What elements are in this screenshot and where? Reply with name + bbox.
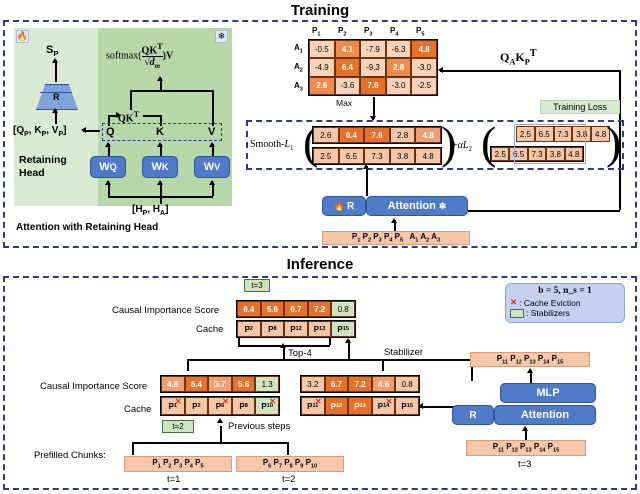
- tokens-to-attention-arrow: [391, 218, 397, 223]
- retaining-head-label: Retaining Head: [19, 154, 67, 180]
- legend-eviction-label: : Cache Eviction: [519, 298, 580, 308]
- cache-cell: P15: [331, 321, 355, 337]
- cache-cell: P12: [325, 397, 349, 415]
- v-label: V: [208, 126, 215, 138]
- snowflake-icon: ❄: [215, 30, 228, 43]
- attention-matrix-grid: -0.54.1-7.9-6.34.8-4.96.4-9.32.8-3.02.6-…: [308, 39, 438, 96]
- qakp-feedback-arrow: [438, 67, 443, 73]
- qkt-k-hline: [143, 115, 161, 117]
- matrix-cell: -9.3: [360, 58, 386, 76]
- smooth-l1-label: Smooth-L1: [250, 139, 294, 152]
- cache-cell: P11✕: [301, 397, 325, 415]
- mlp-to-output-arrow: [527, 368, 533, 373]
- h-input-label: [HP, HA]: [132, 204, 168, 217]
- cache-cell: P2: [237, 321, 261, 337]
- top4-bracket-left: [238, 338, 240, 345]
- sp-arrow-head: [52, 58, 58, 63]
- matrix-cell: 2.6: [313, 127, 339, 143]
- matrix-col-p5: P5: [416, 26, 424, 38]
- step3-score-row: 6.45.66.77.20.8: [236, 300, 356, 318]
- matrix-cell: -4.9: [309, 58, 335, 76]
- step3-right-score-row: 3.26.77.24.60.8: [300, 375, 420, 393]
- matrix-cell: 2.6: [309, 77, 335, 95]
- wv-to-v-arrow: [209, 142, 215, 147]
- score-cell: 5.6: [261, 301, 285, 317]
- softmax-formula: softmax( QKT √dm )V: [106, 42, 173, 70]
- decode-step-label: t=3: [518, 459, 531, 470]
- training-r-module[interactable]: 🔥 R: [322, 196, 366, 216]
- h-to-wq-arrow: [105, 180, 111, 185]
- h-stem-line: [160, 196, 162, 204]
- retaining-head-caption: Attention with Retaining Head: [16, 222, 158, 233]
- qkv-link-arrow: [81, 127, 86, 133]
- matrix-cell: 6.5: [339, 148, 365, 164]
- stabilizer-icon: [510, 309, 524, 318]
- inference-legend: b = 5, n_s = 1 ✕ : Cache Eviction : Stab…: [505, 283, 625, 323]
- chunk-1: P1 P2 P3 P4 P5: [124, 456, 232, 472]
- matrix-row: -4.96.4-9.32.8-3.0: [309, 58, 437, 76]
- legend-params: b = 5, n_s = 1: [510, 286, 620, 296]
- top4-label: Top-4: [288, 348, 312, 359]
- matrix-cell: 6.4: [335, 58, 361, 76]
- matrix-cell: 7.6: [364, 127, 390, 143]
- h-to-wv-arrow: [209, 180, 215, 185]
- merge-left-down: [187, 359, 189, 371]
- l2-brace-close: ): [606, 122, 621, 163]
- decode-output-tokens: P11 P12 P13 P14 P15: [470, 352, 590, 367]
- matrix-cell: -3.6: [335, 77, 361, 95]
- cache-label-top: Cache: [196, 324, 223, 335]
- merge-bracket: [187, 359, 383, 361]
- cache-eviction-icon: ✕: [386, 398, 393, 406]
- retaining-head-panel: 🔥 ❄ SP R [QP, KP, VP] Retaining Head sof…: [10, 26, 236, 226]
- input-to-attention-arrow: [522, 426, 528, 431]
- cache-eviction-icon: ✕: [222, 398, 229, 406]
- stabilizer-label: Stabilizer: [384, 347, 423, 358]
- h-to-wk-arrow: [157, 180, 163, 185]
- score-cell: 1.3: [255, 376, 279, 392]
- fire-icon: 🔥: [16, 30, 29, 43]
- softmax-tail: )V: [163, 50, 174, 61]
- trapezoid-label: R: [53, 92, 60, 102]
- matrix-cell: -3.0: [411, 58, 437, 76]
- step3-tag: t=3: [244, 279, 270, 292]
- decode-r-module[interactable]: R: [452, 405, 494, 425]
- causal-importance-label-left: Causal Importance Score: [40, 381, 147, 392]
- chunk-bracket: [132, 442, 288, 444]
- wv-box: WV: [194, 156, 230, 178]
- stabilizer-arrow: [345, 338, 351, 343]
- fire-icon-r: 🔥: [334, 201, 345, 212]
- prefilled-chunks-label: Prefilled Chunks:: [34, 450, 106, 461]
- cache-eviction-icon: ✕: [269, 398, 276, 406]
- retaining-label-line1: Retaining: [19, 154, 67, 166]
- qkv-p-label: [QP, KP, VP]: [13, 125, 66, 138]
- trapezoid-input-arrow: [52, 108, 58, 113]
- module-to-loss-line: [366, 166, 368, 196]
- cache-cell: P15: [395, 397, 419, 415]
- score-cell: 0.8: [395, 376, 419, 392]
- matrix-col-p1: P1: [312, 26, 320, 38]
- right-feed-arrow: [418, 403, 423, 409]
- score-cell: 6.4: [185, 376, 209, 392]
- softmax-input-arrow: [157, 76, 163, 81]
- alpha-l2-label: +αL2: [452, 140, 472, 153]
- snowflake-icon-attn: ❄: [439, 201, 447, 212]
- training-section-title: Training: [0, 2, 640, 19]
- attn-combine-hline: [130, 90, 213, 92]
- score-cell: 0.8: [331, 301, 355, 317]
- matrix-col-headers: P1 P2 P3 P4 P5: [308, 26, 434, 38]
- wk-box: WK: [142, 156, 178, 178]
- module-to-loss-arrow: [363, 164, 369, 169]
- cache-cell: P8: [232, 397, 256, 415]
- matrix-cell: 3.8: [390, 148, 416, 164]
- training-attention-module[interactable]: Attention ❄: [366, 196, 468, 216]
- cache-cell: P2: [185, 397, 209, 415]
- top4-bracket-right: [329, 338, 331, 345]
- matrix-cell: 4.8: [411, 40, 437, 58]
- matrix-cell: -2.5: [411, 77, 437, 95]
- attention-matrix-block: P1 P2 P3 P4 P5 A1 A2 A3 -0.54.1-7.9-6.34…: [300, 26, 440, 121]
- causal-importance-label-top: Causal Importance Score: [112, 305, 219, 316]
- sp-arrow-line: [55, 60, 57, 82]
- matrix-col-p3: P3: [364, 26, 372, 38]
- matrix-cell: 6.4: [339, 127, 365, 143]
- step2-tag: t=2: [162, 420, 194, 433]
- wq-to-q-arrow: [105, 142, 111, 147]
- wq-box: WQ: [90, 156, 126, 178]
- matrix-row: 2.6-3.67.6-3.0-2.5: [309, 77, 437, 95]
- chunk-2: P6 P7 P8 P9 P10: [236, 456, 344, 472]
- cache-cell: P6✕: [208, 397, 232, 415]
- cache-eviction-icon: ✕: [315, 398, 322, 406]
- score-cell: 6.7: [284, 301, 308, 317]
- cache-cell: P8: [261, 321, 285, 337]
- mlp-module[interactable]: MLP: [500, 383, 596, 403]
- cache-cell: P10✕: [255, 397, 279, 415]
- step3-cache-row: P2P8P12P13P15: [236, 320, 356, 338]
- score-cell: 5.6: [232, 376, 256, 392]
- matrix-cell: 2.8: [386, 58, 412, 76]
- cache-cell: P13: [348, 397, 372, 415]
- score-cell: 6.4: [237, 301, 261, 317]
- score-cell: 4.6: [372, 376, 396, 392]
- training-loss-label: Training Loss: [553, 102, 607, 112]
- matrix-cell: 2.5: [491, 147, 509, 161]
- matrix-row-a1: A1: [294, 43, 303, 55]
- legend-stabilizer-label: : Stabilizers: [526, 308, 570, 318]
- score-cell: 3.7: [208, 376, 232, 392]
- chunk-bracket-left: [132, 442, 134, 455]
- matrix-col-p2: P2: [338, 26, 346, 38]
- matrix-max-label: Max: [336, 98, 352, 108]
- stabilizer-vline: [348, 340, 350, 360]
- k-label: K: [156, 126, 164, 138]
- matrix-cell: -0.5: [309, 40, 335, 58]
- merge-right-down: [382, 359, 384, 371]
- attn-combine-right: [212, 90, 214, 126]
- l2-shift-guide: [514, 124, 586, 164]
- training-loss-badge: Training Loss: [540, 100, 620, 114]
- score-cell: 4.8: [161, 376, 185, 392]
- cache-cell: P1✕: [161, 397, 185, 415]
- matrix-cell: -6.3: [386, 40, 412, 58]
- decode-input-tokens: P11 P12 P13 P14 P15: [466, 440, 586, 456]
- matrix-cell: 4.8: [415, 148, 441, 164]
- matrix-cell: 7.6: [360, 77, 386, 95]
- score-cell: 7.2: [348, 376, 372, 392]
- cache-cell: P13: [308, 321, 332, 337]
- training-r-label: R: [347, 201, 354, 212]
- training-attention-label: Attention: [388, 200, 436, 212]
- q-label: Q: [106, 126, 115, 138]
- step3-right-cache-row: P11✕P12P13P14✕P15: [300, 396, 420, 416]
- matrix-row: -0.54.1-7.9-6.34.8: [309, 40, 437, 58]
- matrix-cell: 7.3: [364, 148, 390, 164]
- chunk-2-step: t=2: [282, 474, 295, 485]
- l1-pred-row: 2.66.47.62.84.8: [312, 126, 442, 144]
- qkt-feed-arrow: [116, 112, 121, 118]
- wk-to-k-arrow: [157, 142, 163, 147]
- cache-eviction-icon: ✕: [175, 398, 182, 406]
- matrix-cell: -7.9: [360, 40, 386, 58]
- decode-attention-label: Attention: [521, 409, 569, 421]
- top4-arrow: [280, 343, 286, 348]
- cache-cell: P12: [284, 321, 308, 337]
- attn-combine-left: [130, 90, 132, 110]
- matrix-cell: 2.8: [390, 127, 416, 143]
- matrix-row-a3: A3: [294, 81, 303, 93]
- inference-section-title: Inference: [0, 256, 640, 273]
- step2-score-row: 4.86.43.75.61.3: [160, 375, 280, 393]
- matrix-row-a2: A2: [294, 62, 303, 74]
- chunk-bracket-right: [287, 442, 289, 455]
- decode-attention-module[interactable]: Attention: [494, 405, 596, 425]
- prev-steps-arrow: [217, 418, 223, 423]
- score-cell: 7.2: [308, 301, 332, 317]
- mlp-label: MLP: [536, 387, 559, 399]
- matrix-cell: 4.1: [335, 40, 361, 58]
- cache-eviction-icon: ✕: [510, 297, 517, 308]
- cache-label-left: Cache: [124, 404, 151, 415]
- decode-r-label: R: [469, 410, 476, 421]
- training-input-tokens: P1 P2 P3 P4 P5 A1 A2 A3: [322, 231, 470, 245]
- qakp-feedback-line: [440, 70, 620, 72]
- score-cell: 6.7: [325, 376, 349, 392]
- prev-steps-line: [220, 426, 222, 442]
- matrix-cell: -3.0: [386, 77, 412, 95]
- previous-steps-label: Previous steps: [228, 421, 290, 432]
- chunk-1-step: t=1: [167, 474, 180, 485]
- qakp-feedback-bottom: [468, 210, 620, 212]
- matrix-cell: 4.8: [415, 127, 441, 143]
- qakp-label: QAKPT: [500, 48, 537, 66]
- step2-cache-row: P1✕P2P6✕P8P10✕: [160, 396, 280, 416]
- matrix-col-p4: P4: [390, 26, 398, 38]
- score-cell: 3.2: [301, 376, 325, 392]
- softmax-text: softmax(: [106, 50, 142, 61]
- matrix-cell: 2.5: [313, 148, 339, 164]
- retaining-label-line2: Head: [19, 167, 45, 179]
- cache-cell: P14✕: [372, 397, 396, 415]
- sp-output-label: SP: [46, 44, 58, 58]
- l1-target-row: 2.56.57.33.84.8: [312, 147, 442, 165]
